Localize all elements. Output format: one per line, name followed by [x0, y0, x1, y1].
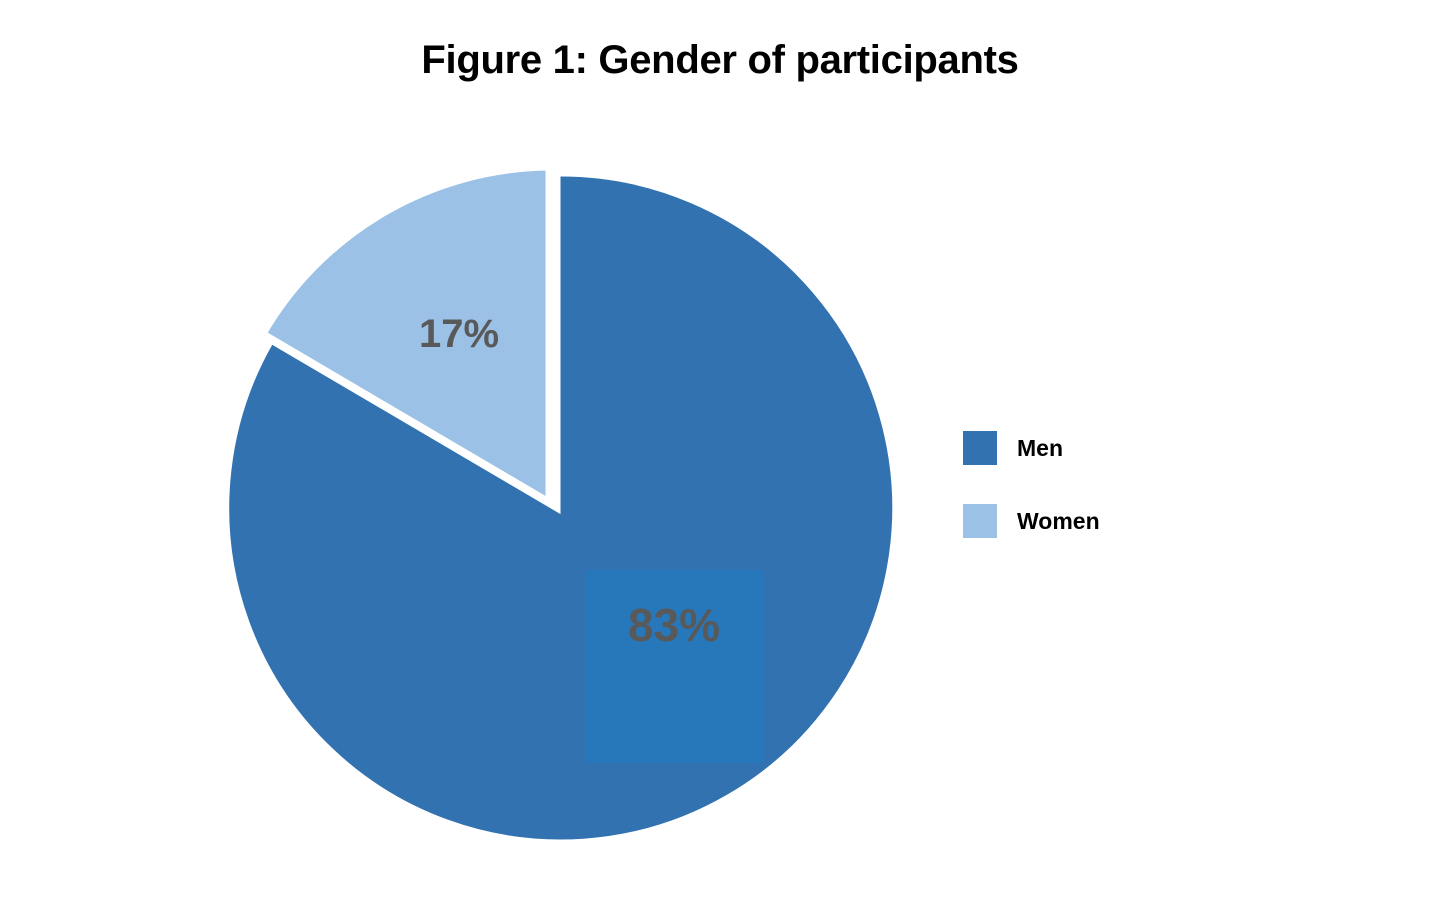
legend-item-men[interactable]: Men: [963, 430, 1183, 466]
pie-label-men-percent[interactable]: 83%: [585, 600, 763, 651]
pie-svg: [200, 150, 920, 870]
chart-title: Figure 1: Gender of participants: [0, 38, 1440, 83]
legend-swatch-men-icon: [963, 431, 997, 465]
pie-chart-figure: Figure 1: Gender of participants 17% 83%…: [0, 0, 1440, 900]
legend-label-men: Men: [1017, 435, 1063, 462]
chart-legend: Men Women: [963, 430, 1183, 576]
pie-plot-area[interactable]: [200, 150, 920, 870]
legend-swatch-women-icon: [963, 504, 997, 538]
legend-label-women: Women: [1017, 508, 1100, 535]
pie-label-women-percent: 17%: [370, 312, 548, 356]
legend-item-women[interactable]: Women: [963, 503, 1183, 539]
